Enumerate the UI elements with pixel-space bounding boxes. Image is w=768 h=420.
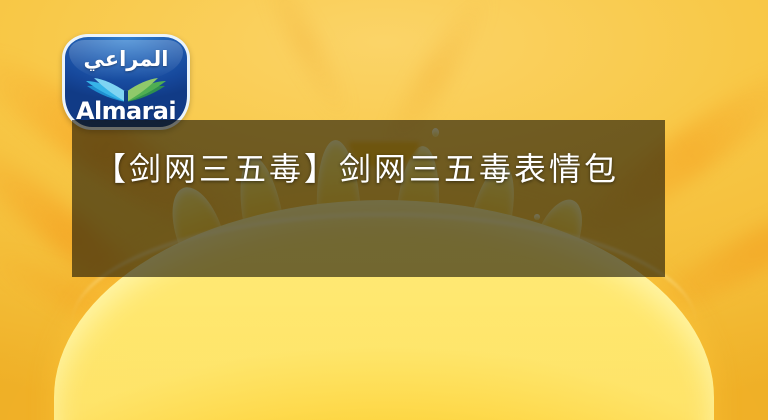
image-banner: المراعي Almarai 【剑网三五毒】剑网三五毒表情包 — [0, 0, 768, 420]
caption-overlay-band: 【剑网三五毒】剑网三五毒表情包 — [72, 120, 665, 277]
logo-shield-shape: المراعي Almarai — [62, 34, 190, 130]
caption-text: 【剑网三五毒】剑网三五毒表情包 — [94, 142, 650, 196]
almarai-logo: المراعي Almarai — [62, 34, 190, 130]
logo-arabic-text: المراعي — [65, 49, 187, 70]
